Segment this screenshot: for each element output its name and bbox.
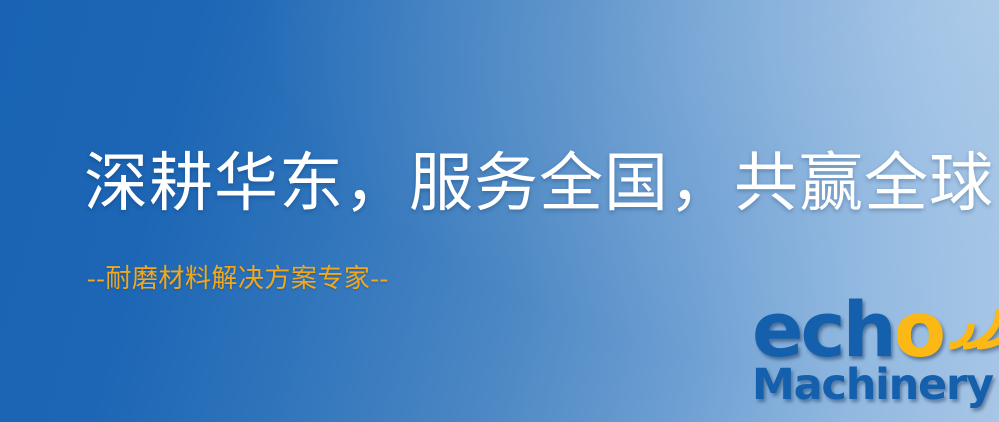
logo-machinery-text: Machinery	[752, 360, 993, 410]
echo-signal-waves-icon	[943, 290, 999, 352]
banner-headline: 深耕华东，服务全国，共赢全球	[84, 152, 994, 216]
logo-wordmark-machinery: Machinery®	[752, 364, 999, 407]
logo-wordmark-echo: echo	[752, 292, 943, 368]
company-logo[interactable]: echo Machinery®	[748, 292, 999, 422]
banner-subtitle: --耐磨材料解决方案专家--	[87, 266, 389, 292]
promo-banner: 深耕华东，服务全国，共赢全球 --耐磨材料解决方案专家-- echo Machi…	[0, 0, 999, 422]
